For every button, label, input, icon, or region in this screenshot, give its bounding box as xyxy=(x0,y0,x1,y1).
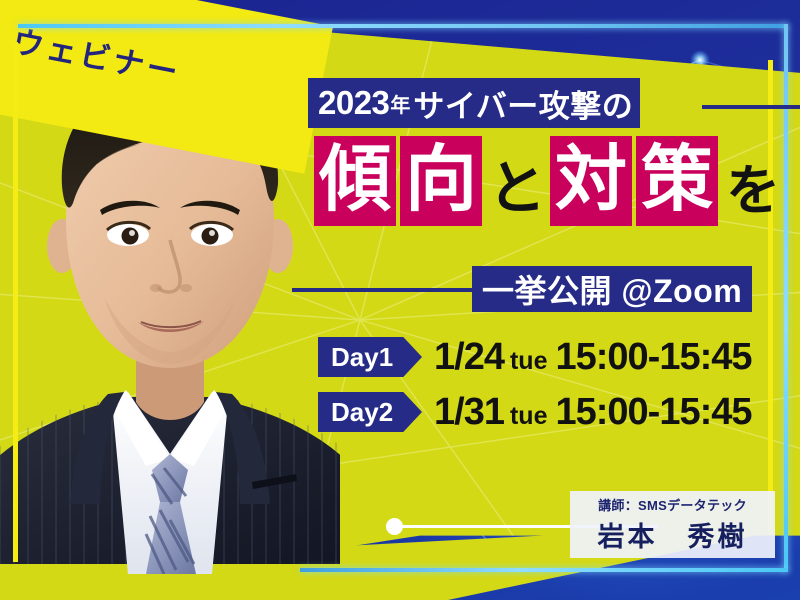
keyword-box-1: 傾 xyxy=(314,136,396,226)
speaker-name: 岩本 秀樹 xyxy=(598,515,748,554)
headline-line-1-text: サイバー攻撃の xyxy=(413,81,633,126)
schedule-row: Day2 1/31 tue 15:00-15:45 xyxy=(318,390,752,434)
keyword-box-2: 向 xyxy=(400,136,482,226)
keyword-box-4: 策 xyxy=(636,136,718,226)
schedule-time-1: 15:00-15:45 xyxy=(555,336,751,379)
schedule-detail-1: 1/24 tue 15:00-15:45 xyxy=(434,336,752,379)
keyword-plain-2: を xyxy=(726,164,780,226)
schedule-date-2: 1/31 xyxy=(434,391,504,434)
headline-rule-left xyxy=(292,288,480,292)
keyword-plain-1: と xyxy=(488,160,546,226)
frame-glow-top xyxy=(18,24,788,28)
headline-year: 2023 xyxy=(318,84,389,122)
day-tag-1: Day1 xyxy=(318,337,422,377)
headline-line-3: 一挙公開 @Zoom xyxy=(286,266,786,314)
schedule-time-2: 15:00-15:45 xyxy=(555,391,751,434)
schedule-dow-2: tue xyxy=(510,402,548,431)
speaker-panel: 講師：SMSデータテック 岩本 秀樹 xyxy=(570,491,775,558)
headline-line-3-bar: 一挙公開 @Zoom xyxy=(472,266,752,312)
schedule-list: Day1 1/24 tue 15:00-15:45 Day2 1/31 tue … xyxy=(318,335,752,445)
schedule-date-1: 1/24 xyxy=(434,336,504,379)
frame-glow-bottom xyxy=(300,568,788,572)
schedule-dow-1: tue xyxy=(510,347,548,376)
headline-year-suffix: 年 xyxy=(390,89,410,118)
speaker-connector-dot xyxy=(386,518,403,535)
webinar-banner: ウェビナー 2023 年 サイバー攻撃の 傾 向 と 対 策 を 一挙公開 @Z… xyxy=(0,0,800,600)
schedule-detail-2: 1/31 tue 15:00-15:45 xyxy=(434,391,752,434)
headline-block: 2023 年 サイバー攻撃の 傾 向 と 対 策 を 一挙公開 @Zoom xyxy=(300,78,780,132)
day-tag-2: Day2 xyxy=(318,392,422,432)
frame-line-left xyxy=(13,42,18,562)
headline-rule-right xyxy=(702,105,800,109)
keyword-box-3: 対 xyxy=(550,136,632,226)
schedule-row: Day1 1/24 tue 15:00-15:45 xyxy=(318,335,752,379)
headline-keywords: 傾 向 と 対 策 を xyxy=(314,136,784,226)
speaker-organization: 講師：SMSデータテック xyxy=(598,495,747,514)
headline-line-1-bar: 2023 年 サイバー攻撃の xyxy=(308,78,640,128)
